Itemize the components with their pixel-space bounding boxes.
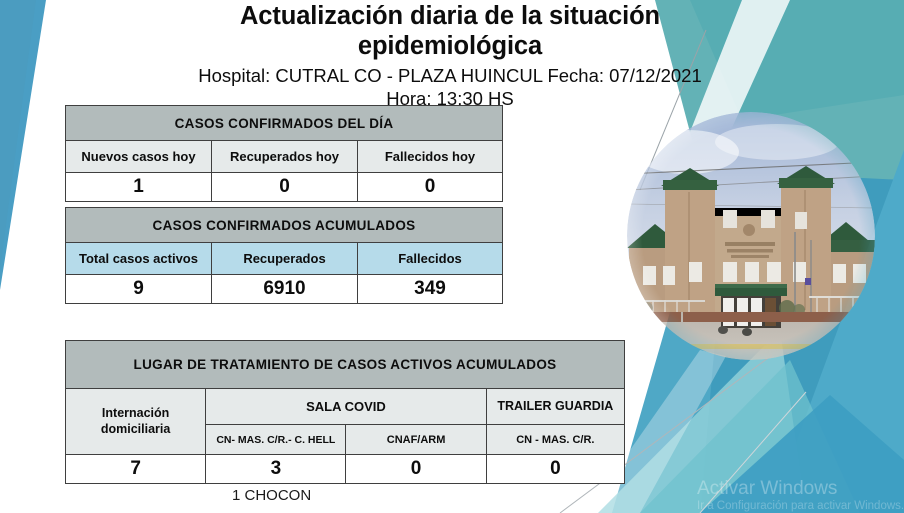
table-row-title: CASOS CONFIRMADOS ACUMULADOS [66,208,503,243]
table-dia-title: CASOS CONFIRMADOS DEL DÍA [66,106,503,141]
table-row-values: 1 0 0 [66,173,503,202]
table-row-headers: Total casos activos Recuperados Fallecid… [66,243,503,275]
header-fallecidos-hoy: Fallecidos hoy [358,141,503,173]
watermark-line-2: Ir a Configuración para activar Windows. [697,500,904,513]
header-trailer-guardia: TRAILER GUARDIA [486,389,624,425]
slide-canvas: Actualización diaria de la situación epi… [0,0,904,513]
subheader-cn-mas-cr-c-hell: CN- MAS. C/R.- C. HELL [206,425,346,455]
hospital-building-photo [627,112,875,360]
value-total-casos-activos: 9 [66,275,212,304]
value-fallecidos: 349 [358,275,503,304]
page-title-line-2: epidemiológica [150,32,750,62]
table-row-title: CASOS CONFIRMADOS DEL DÍA [66,106,503,141]
subheader-cnaf-arm: CNAF/ARM [346,425,486,455]
table-casos-confirmados-dia: CASOS CONFIRMADOS DEL DÍA Nuevos casos h… [65,105,503,202]
header-nuevos-casos-hoy: Nuevos casos hoy [66,141,212,173]
hairline-lower-2 [700,392,806,513]
header-fallecidos: Fallecidos [358,243,503,275]
table-row-values: 7 3 0 0 [66,455,625,484]
subtitle-hospital-date: Hospital: CUTRAL CO - PLAZA HUINCUL Fech… [150,65,750,88]
table-lugar-title: LUGAR DE TRATAMIENTO DE CASOS ACTIVOS AC… [66,341,625,389]
table-lugar-tratamiento: LUGAR DE TRATAMIENTO DE CASOS ACTIVOS AC… [65,340,625,484]
page-title-line-1: Actualización diaria de la situación [150,2,750,32]
value-recuperados-hoy: 0 [212,173,358,202]
header-internacion-domiciliaria: Internación domiciliaria [66,389,206,455]
value-recuperados: 6910 [212,275,358,304]
table-row-title: LUGAR DE TRATAMIENTO DE CASOS ACTIVOS AC… [66,341,625,389]
header-sala-covid: SALA COVID [206,389,486,425]
table-acumulados-title: CASOS CONFIRMADOS ACUMULADOS [66,208,503,243]
table-casos-confirmados-acumulados: CASOS CONFIRMADOS ACUMULADOS Total casos… [65,207,503,304]
value-trailer-cn-mas-cr: 0 [486,455,624,484]
table-row-group-headers: Internación domiciliaria SALA COVID TRAI… [66,389,625,425]
table-row-headers: Nuevos casos hoy Recuperados hoy Falleci… [66,141,503,173]
footnote-chocon: 1 CHOCON [232,487,311,504]
value-internacion-domiciliaria: 7 [66,455,206,484]
value-fallecidos-hoy: 0 [358,173,503,202]
hospital-photo-svg [627,112,875,360]
bottom-light-wash [700,395,904,513]
title-block: Actualización diaria de la situación epi… [150,2,750,110]
page-title: Actualización diaria de la situación epi… [150,2,750,61]
value-cnaf-arm: 0 [346,455,486,484]
left-blue-wedge [0,0,46,290]
activate-windows-watermark: Activar Windows Ir a Configuración para … [697,478,904,513]
table-row-values: 9 6910 349 [66,275,503,304]
header-total-casos-activos: Total casos activos [66,243,212,275]
header-recuperados: Recuperados [212,243,358,275]
watermark-line-1: Activar Windows [697,478,904,500]
header-recuperados-hoy: Recuperados hoy [212,141,358,173]
value-cn-mas-cr-c-hell: 3 [206,455,346,484]
left-blue-wedge-inner [0,0,36,270]
value-nuevos-casos-hoy: 1 [66,173,212,202]
bottom-pale-facet-2 [640,360,860,513]
subheader-cn-mas-cr: CN - MAS. C/R. [486,425,624,455]
